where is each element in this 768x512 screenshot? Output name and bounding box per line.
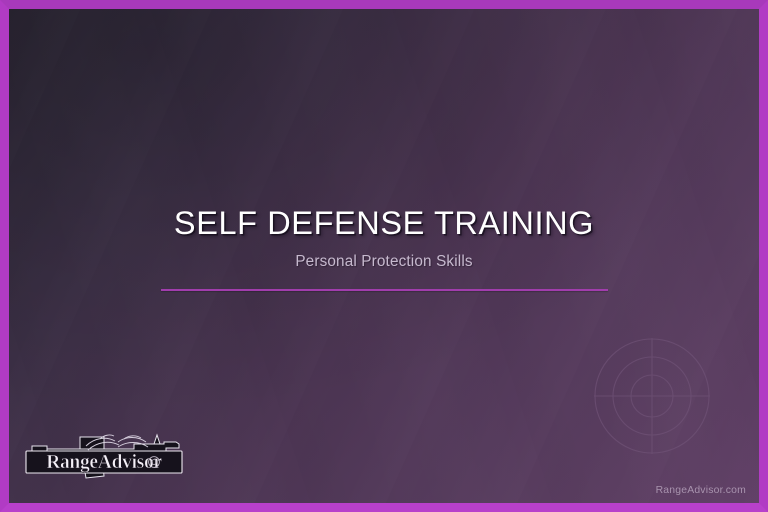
brand-logo: RangeAdvisor bbox=[14, 424, 192, 486]
title-divider bbox=[161, 289, 608, 291]
site-watermark: RangeAdvisor.com bbox=[656, 485, 746, 496]
page-subtitle: Personal Protection Skills bbox=[9, 253, 759, 271]
title-block: SELF DEFENSE TRAINING Personal Protectio… bbox=[9, 205, 759, 291]
page-title: SELF DEFENSE TRAINING bbox=[9, 205, 759, 241]
presentation-slide: SELF DEFENSE TRAINING Personal Protectio… bbox=[0, 0, 768, 512]
logo-wordmark: RangeAdvisor bbox=[46, 452, 162, 473]
